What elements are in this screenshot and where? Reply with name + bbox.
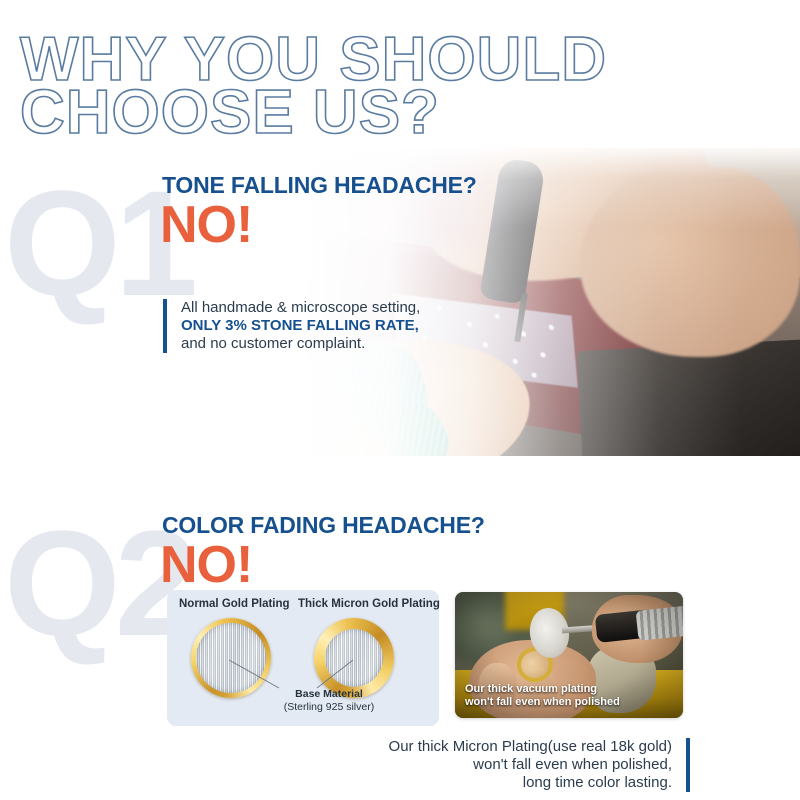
photo1-upper-hand-secondary [580,166,800,357]
leader-line-left [229,660,279,688]
infographic-page: WHY YOU SHOULD CHOOSE US? Q1 TONE FALLI [0,0,800,800]
q1-answer: NO! [160,199,252,251]
base-material-title: Base Material [229,688,429,701]
bottom-statement-line-1: Our thick Micron Plating(use real 18k go… [389,738,672,756]
title-line-2: CHOOSE US? [20,78,440,140]
leader-line-right [317,660,353,688]
gold-plating-comparison-diagram: Normal Gold Plating Thick Micron Gold Pl… [167,590,439,726]
q1-body-line-1: All handmade & microscope setting, [181,299,420,317]
polishing-photo-caption: Our thick vacuum plating won't fall even… [465,683,620,709]
photo2-caption-line-1: Our thick vacuum plating [465,683,620,696]
polishing-photo: Our thick vacuum plating won't fall even… [455,592,683,718]
q2-heading: COLOR FADING HEADACHE? [162,512,485,539]
q1-body-block: All handmade & microscope setting, ONLY … [163,299,420,353]
bottom-statement-block: Our thick Micron Plating(use real 18k go… [389,738,690,792]
base-material-subtitle: (Sterling 925 silver) [229,701,429,714]
q1-body-line-3: and no customer complaint. [181,335,420,353]
q1-body-line-2: ONLY 3% STONE FALLING RATE, [181,317,420,335]
base-material-caption: Base Material (Sterling 925 silver) [229,688,429,713]
page-title: WHY YOU SHOULD CHOOSE US? [18,30,758,140]
q2-answer: NO! [160,539,252,591]
bottom-statement-line-3: long time color lasting. [389,774,672,792]
photo2-caption-line-2: won't fall even when polished [465,696,620,709]
bottom-statement-line-2: won't fall even when polished, [389,756,672,774]
q1-heading: TONE FALLING HEADACHE? [162,172,477,199]
